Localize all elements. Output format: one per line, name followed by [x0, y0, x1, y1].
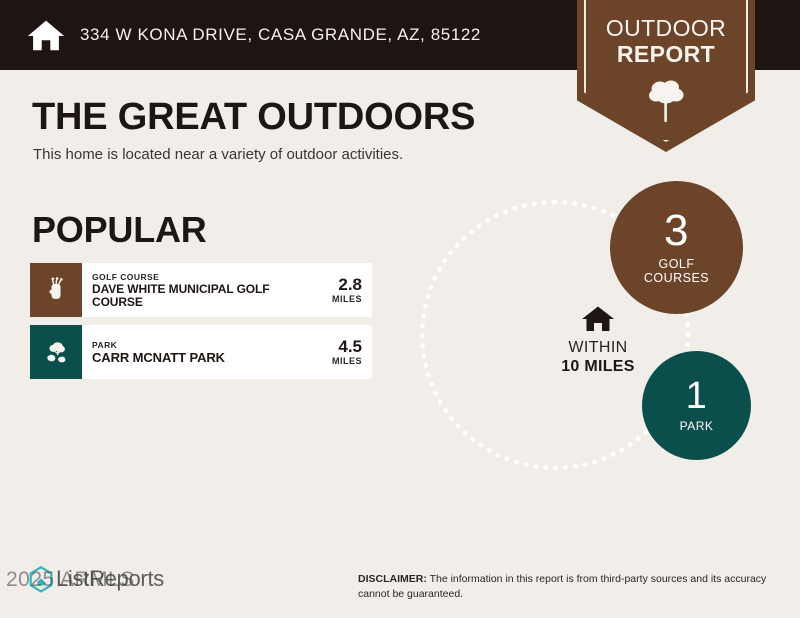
listreports-house-icon	[28, 565, 54, 593]
disclaimer: DISCLAIMER: The information in this repo…	[358, 572, 778, 602]
golf-bag-icon	[30, 263, 82, 317]
distance-value: 2.8	[338, 276, 362, 294]
list-item[interactable]: PARK CARR MCNATT PARK 4.5 MILES	[30, 325, 372, 379]
outdoor-report-badge: OUTDOOR REPORT	[577, 0, 755, 152]
parks-count: 1	[686, 378, 708, 414]
within-line-2: 10 MILES	[528, 358, 668, 377]
summary-visualization: WITHIN 10 MILES 3 GOLF COURSES 1 PARK	[420, 170, 800, 500]
park-tree-icon	[30, 325, 82, 379]
badge-title: OUTDOOR REPORT	[577, 16, 755, 68]
badge-line-2: REPORT	[577, 42, 755, 68]
within-radius-label: WITHIN 10 MILES	[528, 305, 668, 377]
disclaimer-label: DISCLAIMER:	[358, 573, 427, 585]
page-subtitle: This home is located near a variety of o…	[33, 146, 403, 163]
listreports-logo[interactable]: ListReports	[28, 564, 164, 594]
list-item-distance: 2.8 MILES	[296, 263, 372, 317]
property-address: 334 W KONA DRIVE, CASA GRANDE, AZ, 85122	[80, 25, 481, 45]
list-item-name: CARR MCNATT PARK	[92, 351, 290, 365]
list-item-name: DAVE WHITE MUNICIPAL GOLF COURSE	[92, 283, 290, 309]
listreports-wordmark: ListReports	[56, 566, 164, 592]
golf-courses-label-line-2: COURSES	[644, 271, 709, 285]
golf-courses-count: 3	[664, 210, 689, 252]
distance-unit: MILES	[332, 356, 362, 366]
golf-courses-label-line-1: GOLF	[658, 257, 694, 271]
home-icon	[24, 13, 68, 57]
outdoor-report-page: 334 W KONA DRIVE, CASA GRANDE, AZ, 85122…	[0, 0, 800, 618]
stat-circle-golf-courses[interactable]: 3 GOLF COURSES	[610, 181, 743, 314]
list-item-text: PARK CARR MCNATT PARK	[82, 325, 296, 379]
page-title: THE GREAT OUTDOORS	[32, 96, 475, 139]
golf-courses-label: GOLF COURSES	[644, 257, 709, 285]
distance-value: 4.5	[338, 338, 362, 356]
tree-icon	[646, 76, 686, 124]
badge-line-1: OUTDOOR	[577, 16, 755, 42]
list-item-text: GOLF COURSE DAVE WHITE MUNICIPAL GOLF CO…	[82, 263, 296, 317]
list-item-distance: 4.5 MILES	[296, 325, 372, 379]
home-icon	[581, 305, 615, 333]
distance-unit: MILES	[332, 294, 362, 304]
popular-list: GOLF COURSE DAVE WHITE MUNICIPAL GOLF CO…	[30, 263, 372, 387]
parks-label: PARK	[680, 420, 714, 433]
stat-circle-parks[interactable]: 1 PARK	[642, 351, 751, 460]
within-line-1: WITHIN	[528, 339, 668, 358]
section-title-popular: POPULAR	[32, 209, 207, 251]
list-item[interactable]: GOLF COURSE DAVE WHITE MUNICIPAL GOLF CO…	[30, 263, 372, 317]
